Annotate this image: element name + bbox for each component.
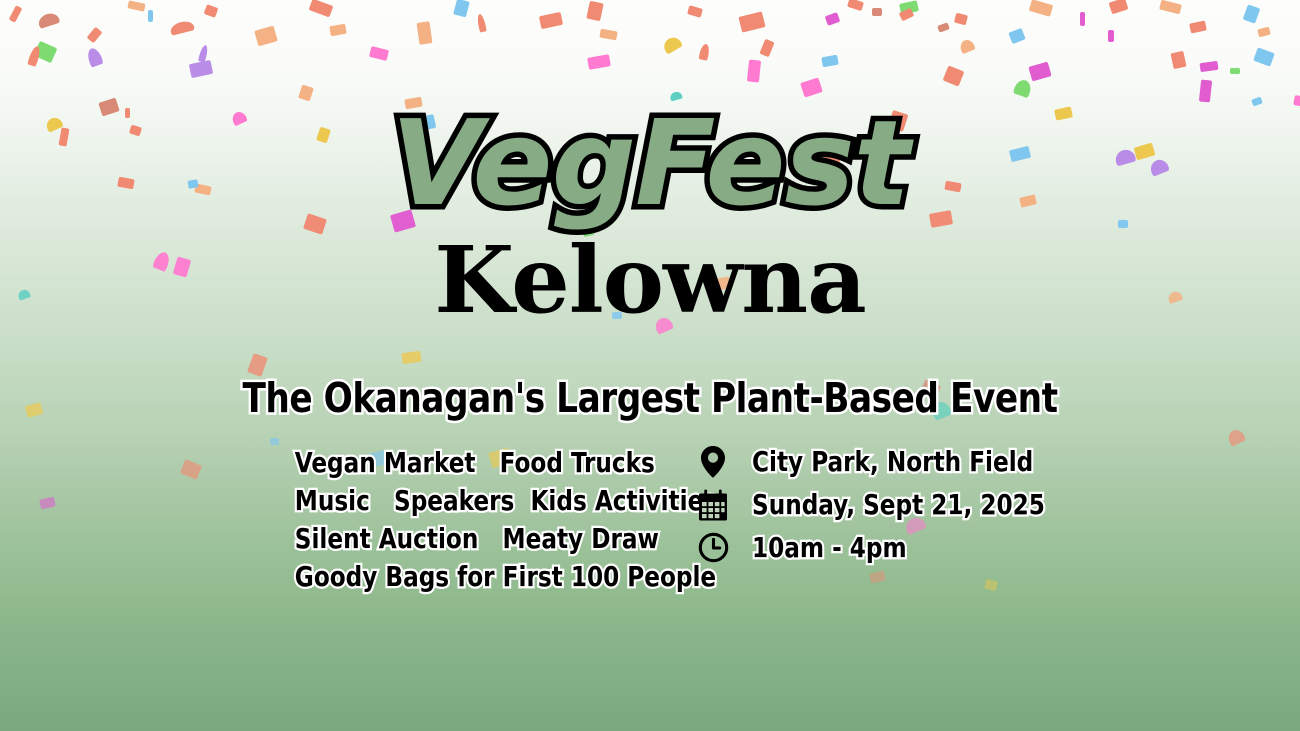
confetti-piece xyxy=(1257,27,1271,38)
confetti-piece xyxy=(198,44,209,62)
confetti-piece xyxy=(169,19,195,35)
location-pin-icon xyxy=(698,445,736,479)
confetti-piece xyxy=(1080,12,1085,26)
calendar-icon xyxy=(698,488,736,522)
confetti-piece xyxy=(1029,0,1053,17)
page-title-vegfest: VegFest xyxy=(0,104,1300,222)
confetti-piece xyxy=(34,41,58,63)
confetti-piece xyxy=(1170,51,1186,69)
confetti-piece xyxy=(747,59,761,82)
confetti-piece xyxy=(698,43,710,61)
confetti-piece xyxy=(1199,61,1218,72)
confetti-piece xyxy=(148,10,153,22)
confetti-piece xyxy=(1159,0,1182,14)
confetti-piece xyxy=(204,4,219,18)
confetti-piece xyxy=(587,54,611,70)
confetti-piece xyxy=(539,12,563,29)
event-details-list: City Park, North FieldSunday, Sept 21, 2… xyxy=(698,440,1118,569)
confetti-piece xyxy=(954,13,968,26)
event-detail-row: Sunday, Sept 21, 2025 xyxy=(698,483,1118,526)
confetti-piece xyxy=(759,39,774,58)
clock-icon xyxy=(698,531,736,565)
confetti-piece xyxy=(687,5,703,18)
confetti-piece xyxy=(9,5,23,22)
confetti-piece xyxy=(958,38,975,54)
confetti-piece xyxy=(1199,79,1212,102)
confetti-piece xyxy=(417,21,433,45)
feature-line: Goody Bags for First 100 People xyxy=(295,558,635,596)
tagline: The Okanagan's Largest Plant-Based Event xyxy=(46,378,1255,419)
confetti-piece xyxy=(847,0,864,11)
confetti-piece xyxy=(127,0,145,11)
confetti-piece xyxy=(661,34,683,54)
event-detail-row: 10am - 4pm xyxy=(698,526,1118,569)
confetti-piece xyxy=(1109,0,1129,14)
feature-line: Music Speakers Kids Activities xyxy=(295,482,635,520)
confetti-piece xyxy=(821,55,838,68)
confetti-piece xyxy=(298,84,314,101)
confetti-piece xyxy=(1230,68,1240,74)
confetti-piece xyxy=(25,402,44,418)
features-list: Vegan Market Food TrucksMusic Speakers K… xyxy=(280,444,650,596)
confetti-piece xyxy=(37,11,61,29)
confetti-piece xyxy=(401,351,421,365)
event-detail-text: Sunday, Sept 21, 2025 xyxy=(752,488,1045,522)
confetti-piece xyxy=(872,8,882,16)
confetti-piece xyxy=(1013,78,1034,99)
confetti-piece xyxy=(369,46,389,61)
confetti-piece xyxy=(27,45,42,67)
content-columns: Vegan Market Food TrucksMusic Speakers K… xyxy=(0,440,1300,620)
feature-line: Silent Auction Meaty Draw xyxy=(295,520,635,558)
confetti-piece xyxy=(87,27,103,44)
confetti-piece xyxy=(329,24,346,37)
confetti-piece xyxy=(586,1,603,22)
confetti-piece xyxy=(85,46,103,67)
event-detail-row: City Park, North Field xyxy=(698,440,1118,483)
confetti-piece xyxy=(899,8,915,22)
feature-line: Vegan Market Food Trucks xyxy=(295,444,635,482)
confetti-piece xyxy=(1253,47,1275,66)
confetti-piece xyxy=(738,11,765,32)
event-detail-text: City Park, North Field xyxy=(752,445,1033,479)
confetti-piece xyxy=(189,60,213,78)
event-detail-text: 10am - 4pm xyxy=(752,531,907,565)
confetti-piece xyxy=(599,29,617,41)
confetti-piece xyxy=(899,0,919,15)
confetti-piece xyxy=(453,0,470,17)
event-poster: VegFest Kelowna The Okanagan's Largest P… xyxy=(0,0,1300,731)
confetti-piece xyxy=(825,12,841,26)
confetti-piece xyxy=(1243,4,1261,23)
confetti-piece xyxy=(476,13,487,32)
confetti-piece xyxy=(1028,62,1051,82)
confetti-piece xyxy=(1008,28,1025,44)
confetti-piece xyxy=(943,65,965,86)
confetti-piece xyxy=(937,22,950,32)
confetti-piece xyxy=(254,26,278,47)
page-title-kelowna: Kelowna xyxy=(0,234,1300,326)
confetti-piece xyxy=(309,0,334,17)
confetti-piece xyxy=(1108,30,1114,42)
confetti-piece xyxy=(1189,20,1207,33)
